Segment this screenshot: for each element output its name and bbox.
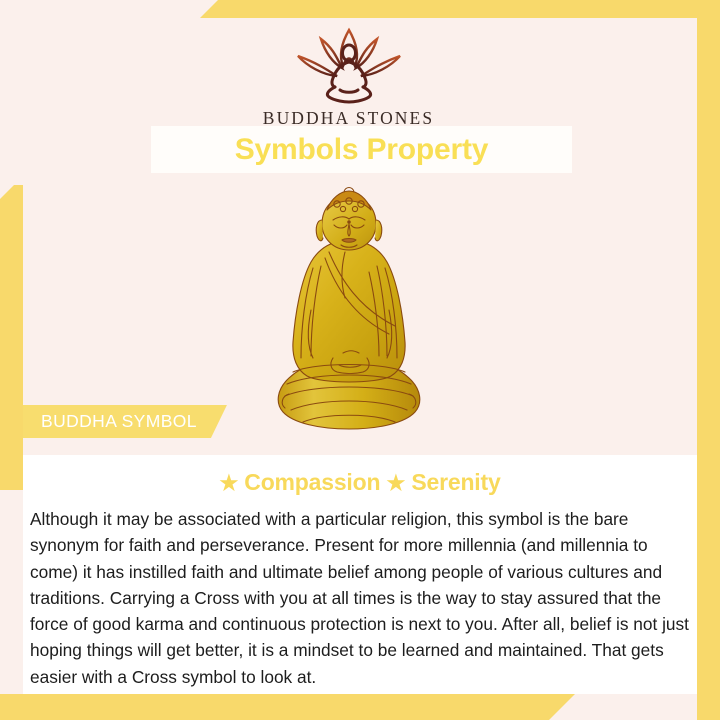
hero-image-container [0, 180, 697, 442]
decor-bottom-band [0, 694, 575, 720]
brand-block: BUDDHA STONES [0, 22, 697, 129]
poster-root: BUDDHA STONES Symbols Property [0, 0, 720, 720]
content-card: ★ Compassion ★ Serenity Although it may … [23, 455, 697, 694]
content-headline: ★ Compassion ★ Serenity [23, 469, 697, 496]
headline-word-compassion: Compassion [244, 469, 380, 495]
title-plate: Symbols Property [151, 126, 572, 173]
decor-top-band [200, 0, 720, 18]
headline-word-serenity: Serenity [411, 469, 500, 495]
category-ribbon-label: BUDDHA SYMBOL [41, 411, 197, 432]
category-ribbon: BUDDHA SYMBOL [23, 405, 227, 438]
decor-right-band [697, 0, 720, 720]
lotus-meditation-figure-icon [281, 22, 417, 104]
buddha-statue-illustration [249, 182, 449, 442]
body-paragraph: Although it may be associated with a par… [23, 506, 697, 690]
star-icon-right: ★ [387, 472, 406, 495]
page-title: Symbols Property [235, 133, 489, 167]
star-icon-left: ★ [219, 472, 238, 495]
